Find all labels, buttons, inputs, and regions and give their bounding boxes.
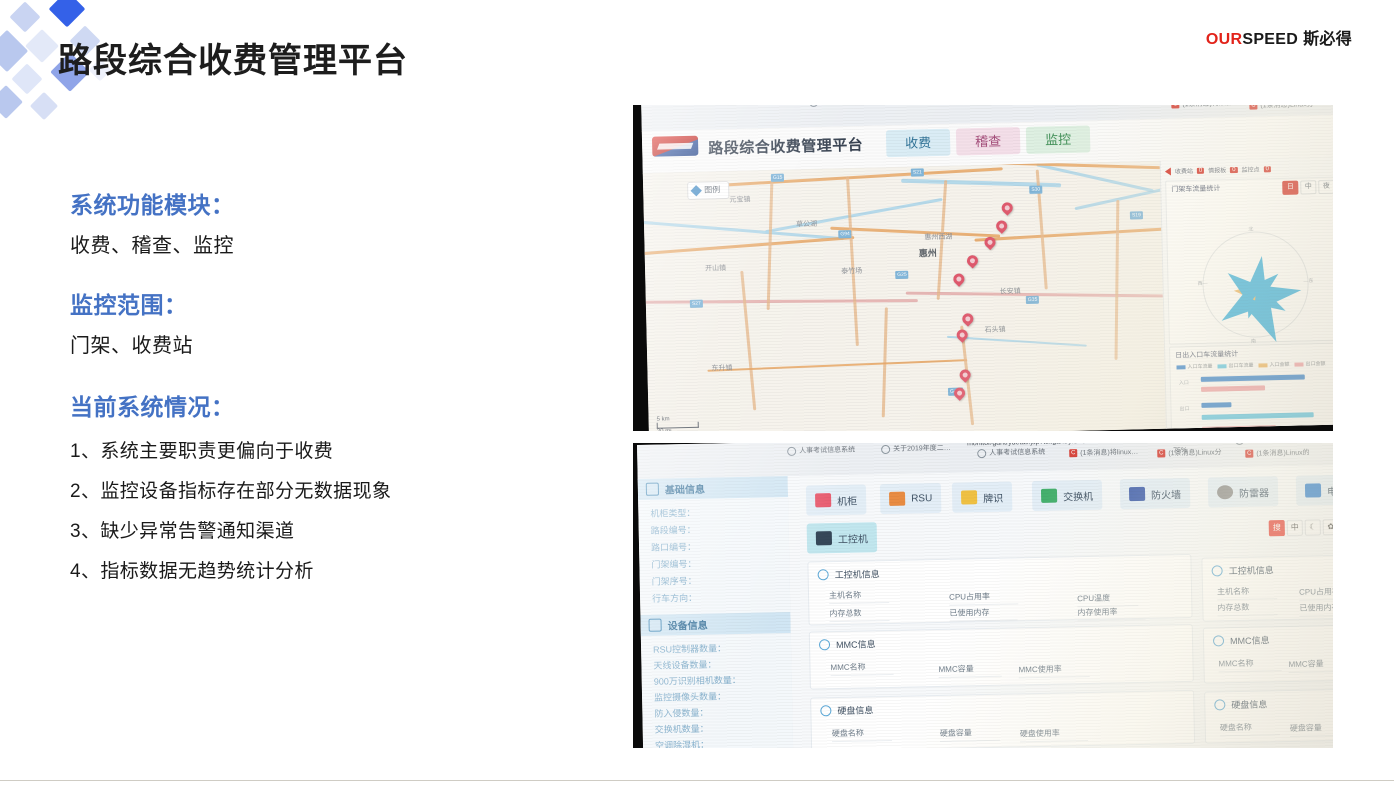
map-place-label: 惠州西湖 (924, 232, 952, 243)
road-badge: S30 (1029, 186, 1042, 194)
info-icon (1212, 565, 1223, 576)
browser-tab[interactable]: (1条消息)将linux… (1080, 447, 1138, 458)
browser-tab[interactable]: ETC门架系统监控 (1144, 443, 1200, 445)
tab-label: 防雷器 (1239, 484, 1269, 500)
alert-label: 情报板 (1208, 165, 1226, 174)
switch-icon (1041, 489, 1057, 503)
map-canvas[interactable]: 图例 (643, 161, 1167, 431)
photographed-screen: 人事考试信息系统 关于2019年度二… 人事考试信息系统 C(1条消息)将lin… (637, 443, 1333, 748)
tab-label: 工控机 (838, 530, 868, 546)
browser-tab[interactable]: 数据总览 (1247, 443, 1275, 445)
field-label: MMC名称 (830, 661, 865, 673)
map-scale-indicator: 5 km 20 mi (657, 416, 699, 431)
legend-label: 图例 (704, 182, 720, 198)
chart-title: 门架车流量统计 (1171, 183, 1220, 194)
map-marker-pin[interactable] (960, 311, 976, 327)
browser-tab[interactable]: (1条消息)Linux的 (1256, 448, 1309, 459)
map-marker-pin[interactable] (999, 200, 1015, 216)
legend-entry: 入口金额 (1258, 361, 1289, 369)
rose-chart: 西— —东 北 南 (1201, 230, 1309, 338)
ime-toolbar[interactable]: 搜 中 ☾ ✿ (1269, 519, 1333, 536)
section-current-status: 当前系统情况： 1、系统主要职责更偏向于收费 2、监控设备指标存在部分无数据现象… (70, 388, 570, 583)
gear-icon (646, 483, 659, 496)
map-place-label: 开山镇 (705, 263, 726, 273)
brand-chinese-text: 斯必得 (1303, 31, 1352, 48)
field-label: 主机名称 (829, 590, 861, 602)
list-item: 3、缺少异常告警通知渠道 (70, 516, 570, 543)
info-icon (818, 569, 829, 580)
tab-label: 机柜 (837, 492, 857, 507)
field-label: 硬盘名称 (1220, 722, 1252, 734)
road-badge: G25 (895, 271, 909, 279)
globe-icon (1235, 443, 1244, 444)
gantry-flow-chart-card: 门架车流量统计 日 中 夜 (1165, 177, 1333, 345)
brand-logo: OURSPEED斯必得 (1206, 25, 1352, 49)
globe-icon (787, 446, 796, 455)
chart-title: 日出入口车流量统计 (1175, 349, 1238, 360)
card-title: 硬盘信息 (1214, 697, 1267, 711)
field-label: 900万识别相机数量： (654, 673, 741, 688)
brand-speed-text: SPEED (1242, 31, 1298, 48)
field-label: MMC名称 (1218, 658, 1253, 670)
tab-battery[interactable]: 电池 (1296, 475, 1333, 506)
field-label: 硬盘容量 (1290, 722, 1322, 734)
browser-tab[interactable]: (1条消息)Linux分 (1260, 105, 1314, 110)
field-label: 天线设备数量： (653, 657, 716, 671)
csdn-icon: C (1069, 449, 1077, 457)
field-label: CPU占用率 (949, 591, 990, 603)
map-marker-pin[interactable] (994, 218, 1010, 234)
csdn-icon: C (1157, 449, 1165, 457)
rsu-icon (889, 492, 905, 506)
road-badge: G35 (1026, 296, 1040, 304)
info-icon (820, 705, 831, 716)
map-place-label: 东升镇 (711, 363, 732, 373)
tab-label: 防火墙 (1151, 486, 1181, 502)
map-marker-pin[interactable] (954, 327, 970, 343)
tab-plate-recognition[interactable]: 牌识 (952, 481, 1013, 512)
list-item: 1、系统主要职责更偏向于收费 (70, 436, 570, 463)
card-title: MMC信息 (1213, 633, 1270, 647)
card-title: 工控机信息 (1212, 563, 1274, 577)
analytics-rail: 收费站 0 情报板 0 监控点 0 门架车流量统计 日 中 夜 (1160, 156, 1333, 428)
map-scale-sublabel: 20 mi (657, 428, 699, 431)
card-title: 硬盘信息 (820, 703, 873, 717)
ime-flower-icon[interactable]: ✿ (1323, 519, 1333, 535)
legend-entry: 出口车流量 (1217, 362, 1253, 370)
section-heading: 监控范围： (70, 286, 570, 320)
alert-label: 收费站 (1175, 166, 1193, 175)
field-label: 主机名称 (1217, 586, 1249, 598)
section-monitor-scope: 监控范围： 门架、收费站 (70, 286, 570, 358)
browser-tab[interactable]: (1条消息)将linux… (1182, 105, 1240, 109)
segment-day[interactable]: 日 (1282, 181, 1298, 195)
bar-exit-flow-a (1201, 402, 1231, 408)
info-icon (1214, 699, 1225, 710)
firewall-icon (1129, 487, 1145, 501)
map-place-label: 长安镇 (1000, 286, 1021, 296)
field-label: 内存使用率 (1077, 606, 1117, 618)
field-label: 路口编号： (651, 540, 696, 554)
card-title: MMC信息 (819, 637, 876, 651)
csdn-icon: C (1171, 105, 1179, 109)
cabinet-icon (815, 493, 831, 507)
map-place-label: 石头镇 (984, 324, 1005, 334)
field-label: 机柜类型： (650, 506, 695, 520)
map-marker-pin[interactable] (951, 271, 967, 287)
sidebar-section-device-info[interactable]: 设备信息 (640, 612, 790, 636)
browser-tab[interactable]: 人事考试信息系统 (989, 447, 1045, 458)
section-body: 门架、收费站 (70, 329, 570, 358)
csdn-icon: C (1249, 105, 1257, 110)
road-badge: S19 (1130, 211, 1143, 219)
chart-legend: 入口车流量 出口车流量 入口金额 出口金额 (1176, 360, 1325, 371)
nav-tab-monitor[interactable]: 监控 (1026, 125, 1091, 154)
section-title: 设备信息 (667, 617, 707, 633)
info-icon (819, 639, 830, 650)
field-label: CPU占用率 (1299, 586, 1333, 598)
card-industrial-pc-info-secondary: 工控机信息 主机名称 CPU占用率 内存总数 已使用内存 (1201, 554, 1333, 621)
tab-industrial-pc[interactable]: 工控机 (807, 522, 878, 553)
battery-icon (1305, 483, 1321, 497)
page-title: 路段综合收费管理平台 (58, 33, 408, 82)
alert-label: 监控点 (1241, 164, 1259, 173)
tab-rsu[interactable]: RSU (880, 483, 942, 514)
field-label: 门架编号： (651, 557, 696, 571)
section-heading: 当前系统情况： (70, 388, 570, 422)
csdn-icon: C (1245, 450, 1253, 458)
device-detail-screenshot: 人事考试信息系统 关于2019年度二… 人事考试信息系统 C(1条消息)将lin… (633, 443, 1333, 748)
field-label: 硬盘容量 (940, 727, 972, 739)
bar-entry-amount (1201, 385, 1265, 392)
alert-count: 0 (1197, 167, 1204, 173)
app-name: 路段综合收费管理平台 (708, 134, 863, 159)
info-icon (1213, 635, 1224, 646)
tab-label: 交换机 (1063, 487, 1093, 503)
content-column: 系统功能模块： 收费、稽查、监控 监控范围： 门架、收费站 当前系统情况： 1、… (70, 186, 570, 605)
globe-icon (881, 444, 890, 453)
map-place-label: 泰竹场 (841, 266, 862, 276)
legend-entry: 出口金额 (1294, 360, 1325, 368)
section-body: 收费、稽查、监控 (70, 229, 570, 258)
field-label: MMC容量 (1288, 658, 1323, 670)
list-item: 4、指标数据无趋势统计分析 (70, 556, 570, 583)
brand-our-text: OUR (1206, 31, 1242, 48)
card-mmc-info: MMC信息 MMC名称 MMC容量 MMC使用率 (809, 624, 1194, 690)
browser-tab[interactable]: 人事考试信息系统 (821, 105, 877, 107)
ime-logo-icon[interactable]: 搜 (1269, 520, 1285, 536)
road-badge: S27 (690, 300, 703, 308)
bar-exit-flow-b (1202, 412, 1314, 420)
card-industrial-pc-info: 工控机信息 主机名称 CPU占用率 CPU温度 内存总数 已使用内存 内存使用率 (807, 554, 1192, 626)
map-legend-button[interactable]: 图例 (687, 181, 729, 200)
nav-tab-inspection[interactable]: 稽查 (956, 127, 1021, 156)
card-disk-info-secondary: 硬盘信息 硬盘名称 硬盘容量 (1204, 688, 1333, 743)
field-label: 硬盘使用率 (1020, 728, 1060, 740)
tab-label: 牌识 (983, 489, 1003, 504)
legend-icon (691, 185, 702, 196)
tab-lightning-protector[interactable]: 防雷器 (1208, 476, 1279, 507)
segment-midday[interactable]: 中 (1300, 180, 1316, 194)
browser-tab[interactable]: 关于2019年度二… (893, 443, 951, 454)
ime-mode-chinese[interactable]: 中 (1287, 520, 1303, 536)
section-heading: 系统功能模块： (70, 186, 570, 220)
map-marker-pin[interactable] (965, 253, 981, 269)
alert-count: 0 (1230, 166, 1237, 172)
globe-icon (809, 105, 818, 107)
map-dashboard-screenshot: 人事考试信息系统 关于2019年度二… 人事考试信息系统 C直播大全_CCTV节… (633, 105, 1333, 431)
tab-firewall[interactable]: 防火墙 (1120, 478, 1191, 509)
tab-cabinet[interactable]: 机柜 (806, 484, 867, 515)
field-label: 路段编号： (651, 523, 696, 537)
section-function-modules: 系统功能模块： 收费、稽查、监控 (70, 186, 570, 258)
field-label: CPU温度 (1077, 593, 1110, 605)
lightning-protector-icon (1217, 485, 1233, 499)
field-label: 内存总数 (1217, 602, 1249, 614)
field-label: 硬盘名称 (832, 728, 864, 740)
device-main-panel: 机柜 RSU 牌识 交换机 防火墙 (788, 465, 1333, 748)
segment-night[interactable]: 夜 (1318, 180, 1333, 194)
nav-tab-toll[interactable]: 收费 (886, 129, 951, 158)
field-label: 已使用内存 (1299, 602, 1333, 614)
field-label: MMC容量 (938, 663, 973, 675)
app-logo-icon (652, 136, 698, 157)
map-place-label: 草公湖 (796, 219, 817, 229)
globe-icon (977, 448, 986, 457)
tab-label: 电池 (1327, 482, 1333, 497)
bar-entry-flow (1201, 374, 1305, 381)
field-label: 监控摄像头数量： (654, 689, 726, 703)
road-badge: G15 (771, 174, 785, 182)
entry-exit-flow-chart-card: 日出入口车流量统计 入口车流量 出口车流量 入口金额 出口金额 入口 出口 (1169, 343, 1333, 429)
industrial-pc-icon (816, 531, 832, 545)
road-badge: S21 (911, 168, 924, 176)
status-issue-list: 1、系统主要职责更偏向于收费 2、监控设备指标存在部分无数据现象 3、缺少异常告… (70, 436, 570, 583)
card-disk-info: 硬盘信息 硬盘名称 硬盘容量 硬盘使用率 (810, 690, 1195, 748)
road-badge: G94 (838, 230, 852, 238)
device-info-sidebar: 基础信息 机柜类型： 路段编号： 路口编号： 门架编号： 门架序号： 行车方向：… (638, 476, 795, 748)
alert-count: 0 (1264, 166, 1271, 172)
section-title: 基础信息 (665, 481, 705, 497)
field-label: 已使用内存 (949, 607, 989, 619)
field-label: RSU控制器数量： (653, 641, 726, 655)
ime-moon-icon[interactable]: ☾ (1305, 519, 1321, 535)
period-segmented-control[interactable]: 日 中 夜 (1282, 180, 1333, 195)
sidebar-section-basic-info[interactable]: 基础信息 (638, 476, 788, 500)
bar-exit-amount (1202, 425, 1276, 429)
alert-summary-bar: 收费站 0 情报板 0 监控点 0 (1165, 161, 1333, 178)
browser-tab[interactable]: 人事考试信息系统 (799, 445, 855, 456)
zoom-level[interactable]: 75% (1173, 447, 1187, 454)
field-label: MMC使用率 (1018, 664, 1061, 676)
speaker-icon (1165, 167, 1171, 175)
photographed-screen: 人事考试信息系统 关于2019年度二… 人事考试信息系统 C直播大全_CCTV节… (641, 105, 1333, 431)
legend-entry: 入口车流量 (1176, 363, 1212, 371)
tab-switch[interactable]: 交换机 (1032, 480, 1103, 511)
tab-label: RSU (911, 493, 932, 504)
plate-recognition-icon (961, 490, 977, 504)
card-title: 工控机信息 (818, 567, 880, 581)
map-place-label: 元宝镇 (729, 194, 750, 204)
field-label: 行车方向： (652, 591, 697, 605)
field-label: 内存总数 (829, 608, 861, 620)
device-icon (648, 619, 661, 632)
card-mmc-info-secondary: MMC信息 MMC名称 MMC容量 (1203, 624, 1333, 683)
field-label: 空调除湿机： (655, 738, 709, 748)
field-label: 交换机数量： (655, 722, 709, 736)
map-marker-pin[interactable] (957, 367, 973, 383)
field-label: 门架序号： (652, 574, 697, 588)
field-label: 防入侵数量： (654, 706, 708, 720)
footer-divider (0, 780, 1394, 781)
map-city-label: 惠州 (919, 246, 937, 259)
list-item: 2、监控设备指标存在部分无数据现象 (70, 476, 570, 503)
